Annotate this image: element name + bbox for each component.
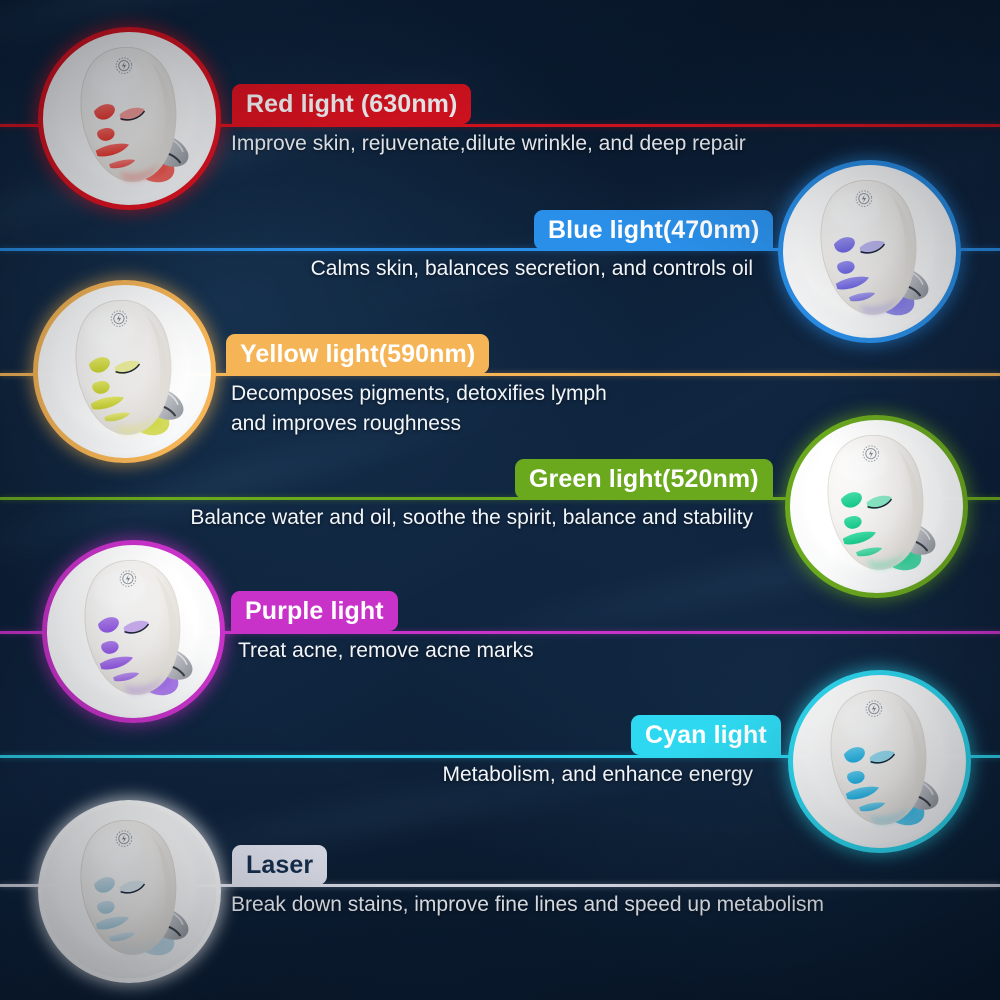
description-yellow: Decomposes pigments, detoxifies lymph an…	[231, 379, 607, 439]
mask-image-green	[785, 415, 968, 598]
poster-root: Red light (630nm) Blue light(470nm) Yell…	[0, 0, 1000, 1000]
mask-artwork	[38, 27, 221, 210]
mask-image-red	[38, 27, 221, 210]
mask-image-yellow	[33, 280, 216, 463]
mask-image-purple	[42, 540, 225, 723]
mask-image-blue	[778, 160, 961, 343]
label-tab-blue[interactable]: Blue light(470nm)	[534, 210, 773, 250]
label-tab-yellow[interactable]: Yellow light(590nm)	[226, 334, 489, 374]
description-purple: Treat acne, remove acne marks	[238, 636, 534, 666]
description-cyan: Metabolism, and enhance energy	[442, 760, 753, 790]
mask-photo-laser	[38, 800, 221, 983]
label-text: Red light (630nm)	[246, 90, 457, 119]
mask-photo-cyan	[788, 670, 971, 853]
label-tab-purple[interactable]: Purple light	[231, 591, 398, 631]
mask-image-laser	[38, 800, 221, 983]
label-tab-green[interactable]: Green light(520nm)	[515, 459, 773, 499]
label-text: Purple light	[245, 597, 384, 626]
label-text: Yellow light(590nm)	[240, 340, 475, 369]
mask-photo-blue	[778, 160, 961, 343]
mask-image-cyan	[788, 670, 971, 853]
label-tab-cyan[interactable]: Cyan light	[631, 715, 781, 755]
label-text: Green light(520nm)	[529, 465, 759, 494]
description-blue: Calms skin, balances secretion, and cont…	[311, 254, 753, 284]
mask-artwork	[38, 800, 221, 983]
mask-artwork	[788, 670, 971, 853]
mask-photo-red	[38, 27, 221, 210]
description-green: Balance water and oil, soothe the spirit…	[190, 503, 753, 533]
mask-artwork	[778, 160, 961, 343]
mask-artwork	[785, 415, 968, 598]
label-text: Blue light(470nm)	[548, 216, 759, 245]
label-tab-red[interactable]: Red light (630nm)	[232, 84, 471, 124]
light-streak	[178, 0, 1000, 10]
mask-artwork	[42, 540, 225, 723]
label-text: Laser	[246, 851, 313, 880]
description-laser: Break down stains, improve fine lines an…	[231, 890, 824, 920]
mask-photo-purple	[42, 540, 225, 723]
label-text: Cyan light	[645, 721, 767, 750]
label-tab-laser[interactable]: Laser	[232, 845, 327, 885]
description-red: Improve skin, rejuvenate,dilute wrinkle,…	[231, 129, 746, 159]
mask-photo-green	[785, 415, 968, 598]
mask-photo-yellow	[33, 280, 216, 463]
mask-artwork	[33, 280, 216, 463]
